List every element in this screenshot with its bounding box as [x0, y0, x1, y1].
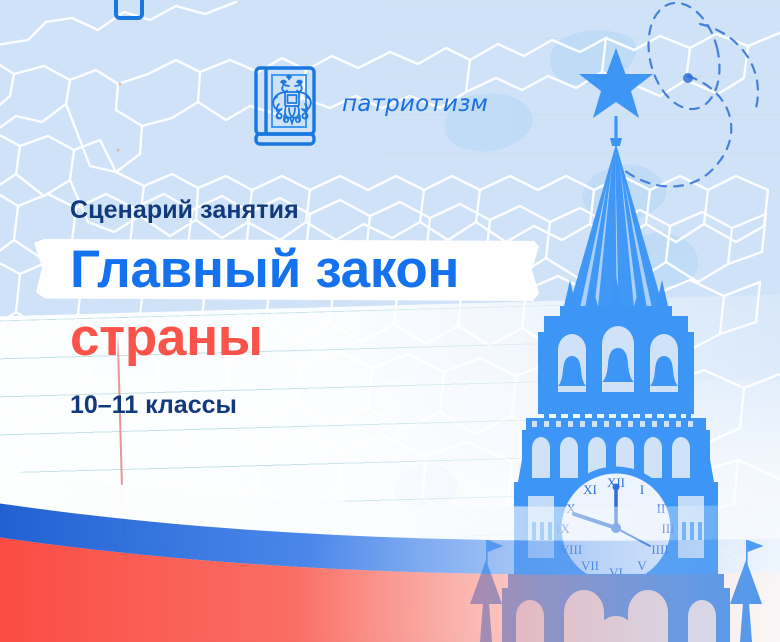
topic-tag: патриотизм — [252, 62, 488, 146]
top-clipped-book-icon — [112, 0, 146, 22]
kremlin-star-icon — [579, 48, 653, 118]
constitution-book-icon — [252, 62, 320, 146]
topic-label: патриотизм — [342, 91, 488, 117]
headline-block: Сценарий занятия Главный закон страны 10… — [0, 196, 560, 420]
title-band: Главный закон — [0, 239, 560, 301]
page-title: Главный закон — [70, 241, 459, 299]
poster-canvas: XII I II III IIII V VI VII VIII IX X XI — [0, 0, 780, 642]
page-title-accent: страны — [70, 309, 560, 367]
kicker-text: Сценарий занятия — [70, 196, 560, 225]
russian-flag-ribbon — [0, 462, 780, 642]
grades-label: 10–11 классы — [70, 391, 560, 420]
